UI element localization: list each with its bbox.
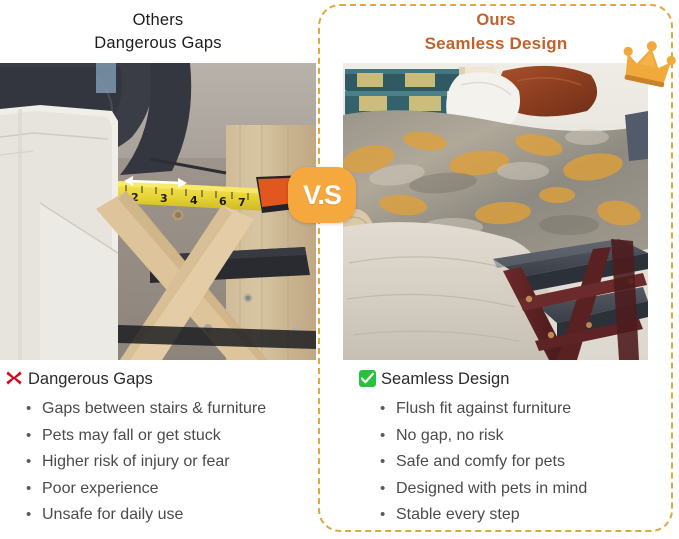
list-item: Pets may fall or get stuck xyxy=(25,423,316,450)
others-heading-line2: Dangerous Gaps xyxy=(0,32,316,55)
list-item: Flush fit against furniture xyxy=(379,396,659,423)
list-item: Designed with pets in mind xyxy=(379,476,659,503)
others-drawbacks: Dangerous Gaps Gaps between stairs & fur… xyxy=(5,368,316,529)
ours-heading: Ours Seamless Design xyxy=(330,0,662,55)
ours-benefits: Seamless Design Flush fit against furnit… xyxy=(359,368,659,529)
ours-summary-label: Seamless Design xyxy=(381,368,509,390)
ours-heading-line1: Ours xyxy=(330,9,662,32)
others-column: Others Dangerous Gaps xyxy=(0,0,316,539)
svg-text:7: 7 xyxy=(238,196,246,209)
ours-summary: Seamless Design xyxy=(359,368,659,390)
list-item: Higher risk of injury or fear xyxy=(25,449,316,476)
ours-column: Ours Seamless Design xyxy=(330,0,662,539)
list-item: Safe and comfy for pets xyxy=(379,449,659,476)
others-summary-label: Dangerous Gaps xyxy=(28,368,153,390)
ours-bullet-list: Flush fit against furniture No gap, no r… xyxy=(359,396,659,529)
list-item: No gap, no risk xyxy=(379,423,659,450)
svg-text:4: 4 xyxy=(190,194,198,207)
others-summary: Dangerous Gaps xyxy=(5,368,316,390)
green-check-icon xyxy=(359,370,376,387)
versus-badge-label: V.S xyxy=(303,182,341,209)
list-item: Unsafe for daily use xyxy=(25,502,316,529)
red-x-icon xyxy=(5,369,23,387)
others-heading: Others Dangerous Gaps xyxy=(0,0,316,55)
others-bullet-list: Gaps between stairs & furniture Pets may… xyxy=(5,396,316,529)
list-item: Stable every step xyxy=(379,502,659,529)
versus-badge: V.S xyxy=(288,167,356,223)
comparison-infographic: Others Dangerous Gaps xyxy=(0,0,679,539)
ours-photo xyxy=(343,63,648,360)
others-heading-line1: Others xyxy=(0,9,316,32)
svg-text:3: 3 xyxy=(160,192,168,205)
list-item: Gaps between stairs & furniture xyxy=(25,396,316,423)
others-photo: 23 46 7 xyxy=(0,63,316,360)
list-item: Poor experience xyxy=(25,476,316,503)
ours-heading-line2: Seamless Design xyxy=(330,32,662,55)
